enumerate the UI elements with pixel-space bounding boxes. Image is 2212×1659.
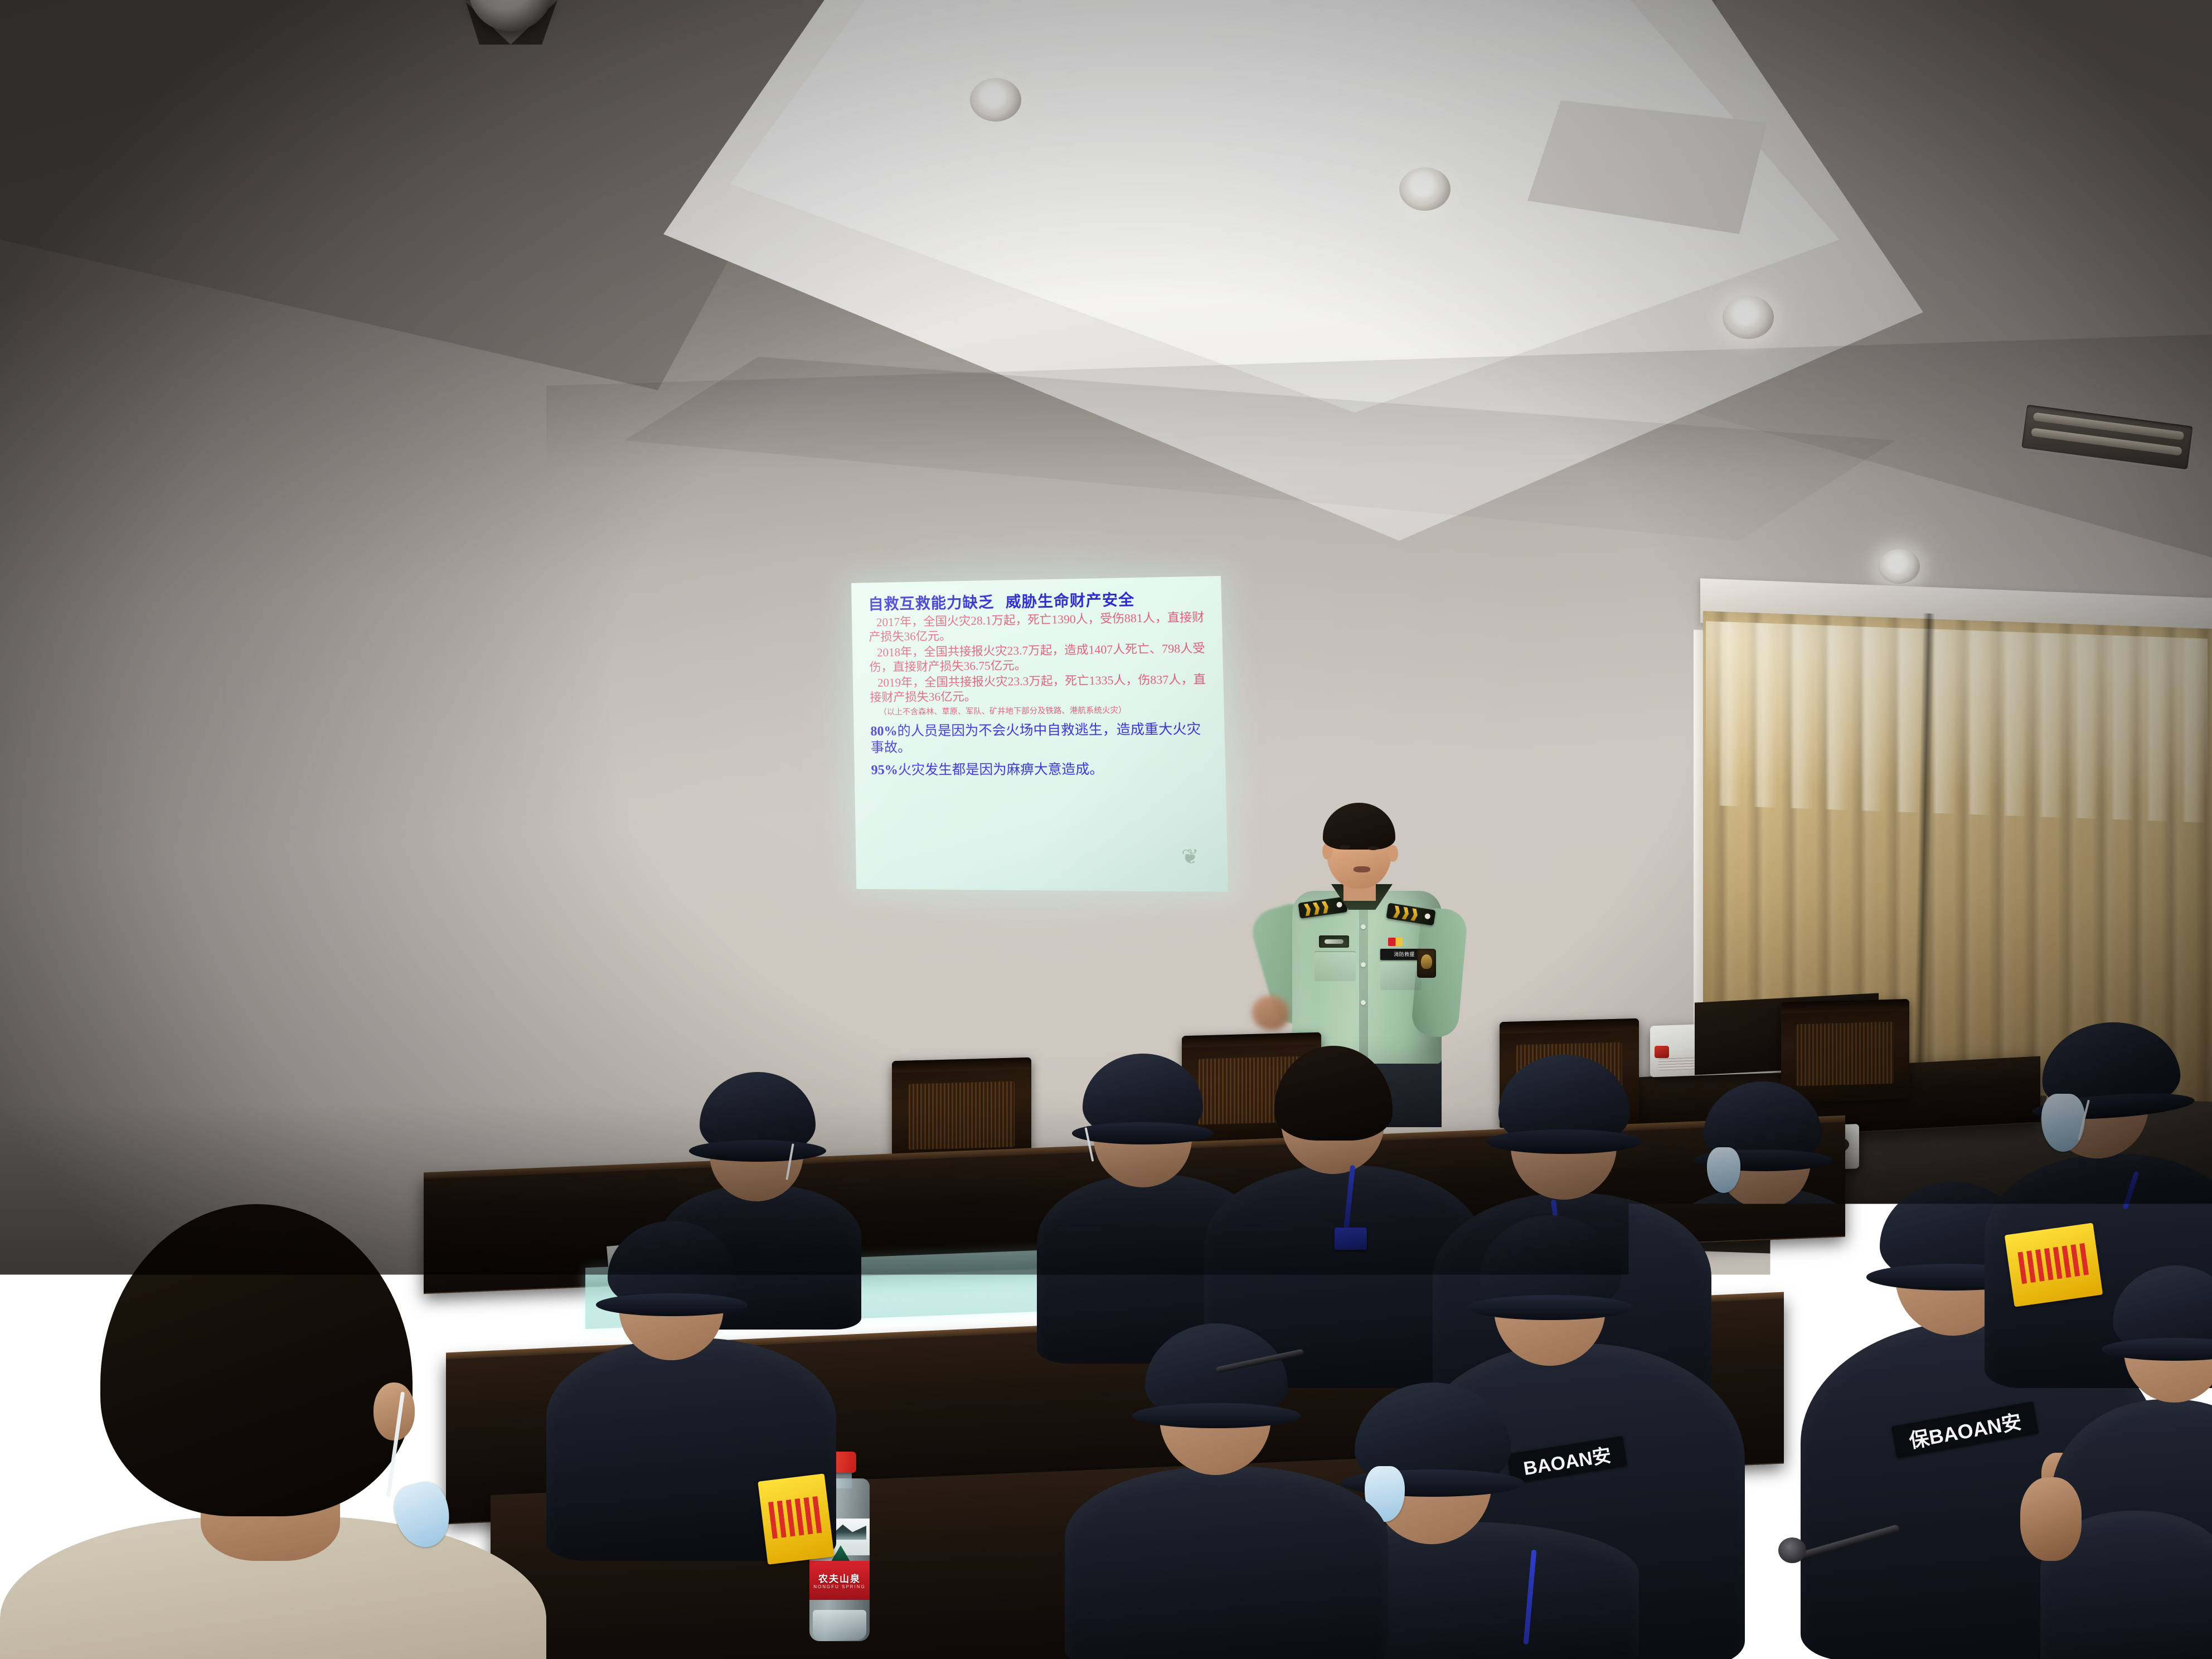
- presenter-hair: [1323, 803, 1395, 850]
- attendee: [569, 1221, 803, 1533]
- shirt-pocket-right: [1380, 960, 1422, 990]
- slide-title-right: 威胁生命财产安全: [1006, 591, 1135, 611]
- attendee-hand: [2020, 1477, 2082, 1561]
- foreground-ear: [373, 1382, 415, 1440]
- attendee-foreground: [61, 1204, 485, 1659]
- presenter-eye: [1340, 845, 1351, 849]
- presenter-mouth: [1354, 866, 1370, 872]
- slide-footnote: （以上不含森林、草原、军队、矿井地下部分及铁路、港航系统火灾）: [870, 706, 1210, 718]
- presenter-ear: [1388, 845, 1398, 862]
- meeting-room-photo: 自救互救能力缺乏威胁生命财产安全 2017年，全国火灾28.1万起，死亡1390…: [0, 0, 2212, 1659]
- slide-stat-2017: 2017年，全国火灾28.1万起，死亡1390人，受伤881人，直接财产损失36…: [869, 610, 1208, 644]
- slide-highlight-95-pct: 95%: [871, 763, 898, 778]
- shirt-button-icon: [1361, 962, 1366, 967]
- slide-highlight-80: 80%的人员是因为不会火场中自救逃生，造成重大火灾事故。: [870, 722, 1211, 756]
- slide-highlight-95: 95%火灾发生都是因为麻痹大意造成。: [871, 761, 1211, 779]
- bottle-brand-en: NONGFU SPRING: [809, 1584, 870, 1589]
- slide-title: 自救互救能力缺乏威胁生命财产安全: [868, 591, 1207, 612]
- downlight-icon: [1723, 295, 1774, 339]
- shirt-button-icon: [1361, 924, 1366, 929]
- attendee-cap: [1498, 1055, 1630, 1147]
- attendee-cap: [700, 1072, 816, 1156]
- shirt-button-icon: [1361, 1000, 1366, 1005]
- projected-slide: 自救互救能力缺乏威胁生命财产安全 2017年，全国火灾28.1万起，死亡1390…: [851, 576, 1228, 892]
- attendee-cap: [1083, 1054, 1203, 1138]
- slide-corner-logo-icon: ❦: [1181, 846, 1216, 882]
- slide-stat-2018: 2018年，全国共接报火灾23.7万起，造成1407人死亡、798人受伤，直接财…: [869, 642, 1209, 675]
- attendee-badge: [1335, 1228, 1367, 1250]
- attendee-hair: [1274, 1046, 1393, 1141]
- presenter-shoulder-patch: [1417, 949, 1436, 978]
- slide-title-left: 自救互救能力缺乏: [868, 594, 994, 613]
- slide-highlight-95-text: 火灾发生都是因为麻痹大意造成。: [898, 762, 1104, 778]
- attendee-cap: [1479, 1215, 1621, 1313]
- downlight-icon: [1399, 167, 1451, 211]
- attendee: [1678, 1076, 1845, 1288]
- slide-highlight-80-text: 的人员是因为不会火场中自救逃生，造成重大火灾事故。: [871, 722, 1201, 755]
- bottle-brand-cn: 农夫山泉: [809, 1571, 870, 1585]
- presenter-chest-badge: [1319, 935, 1349, 948]
- attendee-cap: [608, 1221, 736, 1310]
- attendee-torso: [1667, 1187, 1862, 1332]
- foreground-hair: [100, 1204, 413, 1516]
- flag-pin-icon: [1388, 938, 1403, 946]
- slide-stat-2019: 2019年，全国共接报火灾23.3万起，死亡1335人，伤837人，直接财产损失…: [870, 673, 1210, 705]
- attendee-torso: [1065, 1466, 1388, 1659]
- attendee-cap: [2113, 1265, 2212, 1355]
- downlight-icon: [970, 78, 1021, 122]
- attendee-cap: [1145, 1323, 1288, 1422]
- attendee-foreground-right: [2040, 1477, 2212, 1659]
- presenter-left-hand: [1252, 996, 1289, 1030]
- presenter-eye: [1367, 846, 1379, 850]
- microphone-head-icon: [1778, 1537, 1806, 1563]
- curtain-backlight: [1706, 621, 2208, 822]
- attendee-armband: [758, 1473, 834, 1565]
- slide-highlight-80-pct: 80%: [870, 724, 898, 739]
- downlight-icon: [1879, 549, 1920, 584]
- shirt-pocket-left: [1314, 951, 1356, 981]
